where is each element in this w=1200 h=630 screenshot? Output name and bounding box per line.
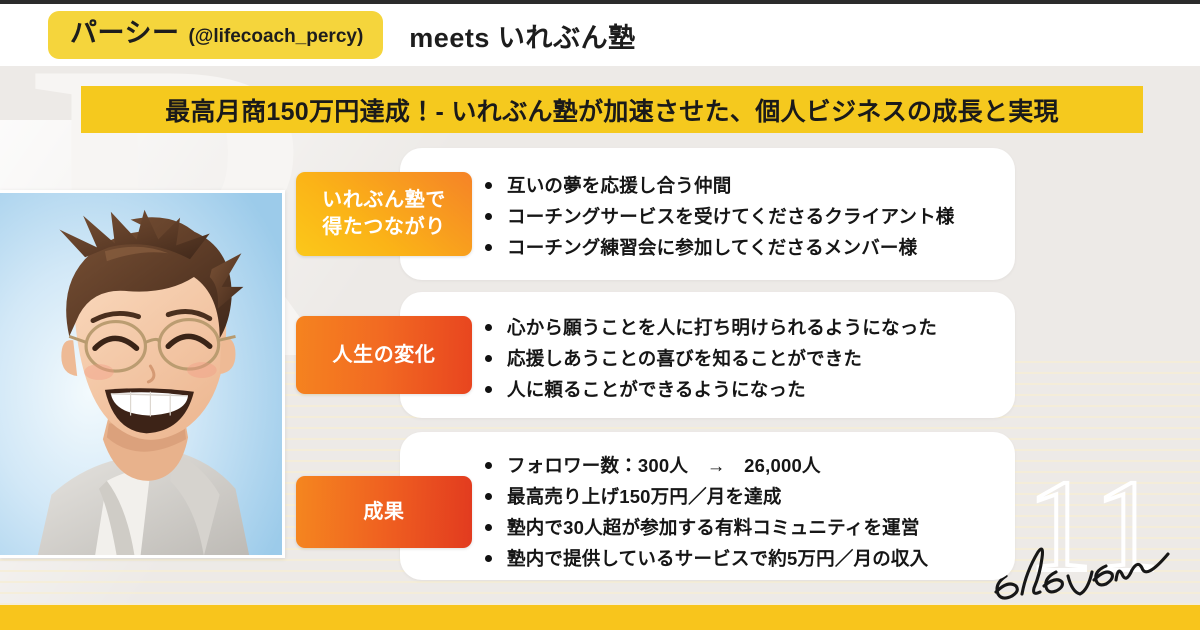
list-item: コーチング練習会に参加してくださるメンバー様 [481,232,955,263]
section-bullet-list: フォロワー数：300人 → 26,000人 最高売り上げ150万円／月を達成 塾… [481,450,928,574]
section-row-connections: いれぶん塾で 得たつながり 互いの夢を応援し合う仲間 コーチングサービスを受けて… [296,148,1015,280]
list-item: フォロワー数：300人 → 26,000人 [481,450,928,481]
list-item: コーチングサービスを受けてくださるクライアント様 [481,201,955,232]
list-item: 最高売り上げ150万円／月を達成 [481,481,928,512]
list-item: 互いの夢を応援し合う仲間 [481,170,955,201]
portrait-photo [0,190,285,558]
list-item: 人に頼ることができるようになった [481,374,937,405]
list-item: 塾内で提供しているサービスで約5万円／月の収入 [481,543,928,574]
section-bullet-list: 心から願うことを人に打ち明けられるようになった 応援しあうことの喜びを知ることが… [481,312,937,405]
meets-text: meets いれぶん塾 [409,16,635,55]
section-tag-connections: いれぶん塾で 得たつながり [296,172,472,256]
list-item: 応援しあうことの喜びを知ることができた [481,343,937,374]
section-bullet-list: 互いの夢を応援し合う仲間 コーチングサービスを受けてくださるクライアント様 コー… [481,170,955,263]
headline-banner: 最高月商150万円達成！- いれぶん塾が加速させた、個人ビジネスの成長と実現 [81,86,1143,133]
eleven-logo-numeral: 11 [1027,460,1166,592]
slide-canvas: R パーシー (@lifecoach_percy) meets いれぶん塾 最高… [0,0,1200,630]
section-row-life-change: 人生の変化 心から願うことを人に打ち明けられるようになった 応援しあうことの喜び… [296,292,1015,418]
section-row-results: 成果 フォロワー数：300人 → 26,000人 最高売り上げ150万円／月を達… [296,432,1015,580]
bottom-yellow-band [0,605,1200,630]
section-tag-life-change: 人生の変化 [296,316,472,394]
section-tag-text: 成果 [363,499,404,526]
section-tag-text: 人生の変化 [333,342,436,369]
header-bar: パーシー (@lifecoach_percy) meets いれぶん塾 [0,4,1200,66]
handle-account: (@lifecoach_percy) [188,26,363,48]
section-tag-text: いれぶん塾で 得たつながり [322,187,446,241]
handle-name: パーシー [70,11,179,50]
tag-line-1: いれぶん塾で [322,189,446,211]
portrait-illustration [0,193,282,555]
tag-line-2: 得たつながり [322,216,446,238]
list-item: 心から願うことを人に打ち明けられるようになった [481,312,937,343]
list-item: 塾内で30人超が参加する有料コミュニティを運営 [481,512,928,543]
top-rule [0,0,1200,4]
handle-pill: パーシー (@lifecoach_percy) [48,11,383,59]
headline-text: 最高月商150万円達成！- いれぶん塾が加速させた、個人ビジネスの成長と実現 [165,92,1059,128]
section-tag-results: 成果 [296,476,472,548]
